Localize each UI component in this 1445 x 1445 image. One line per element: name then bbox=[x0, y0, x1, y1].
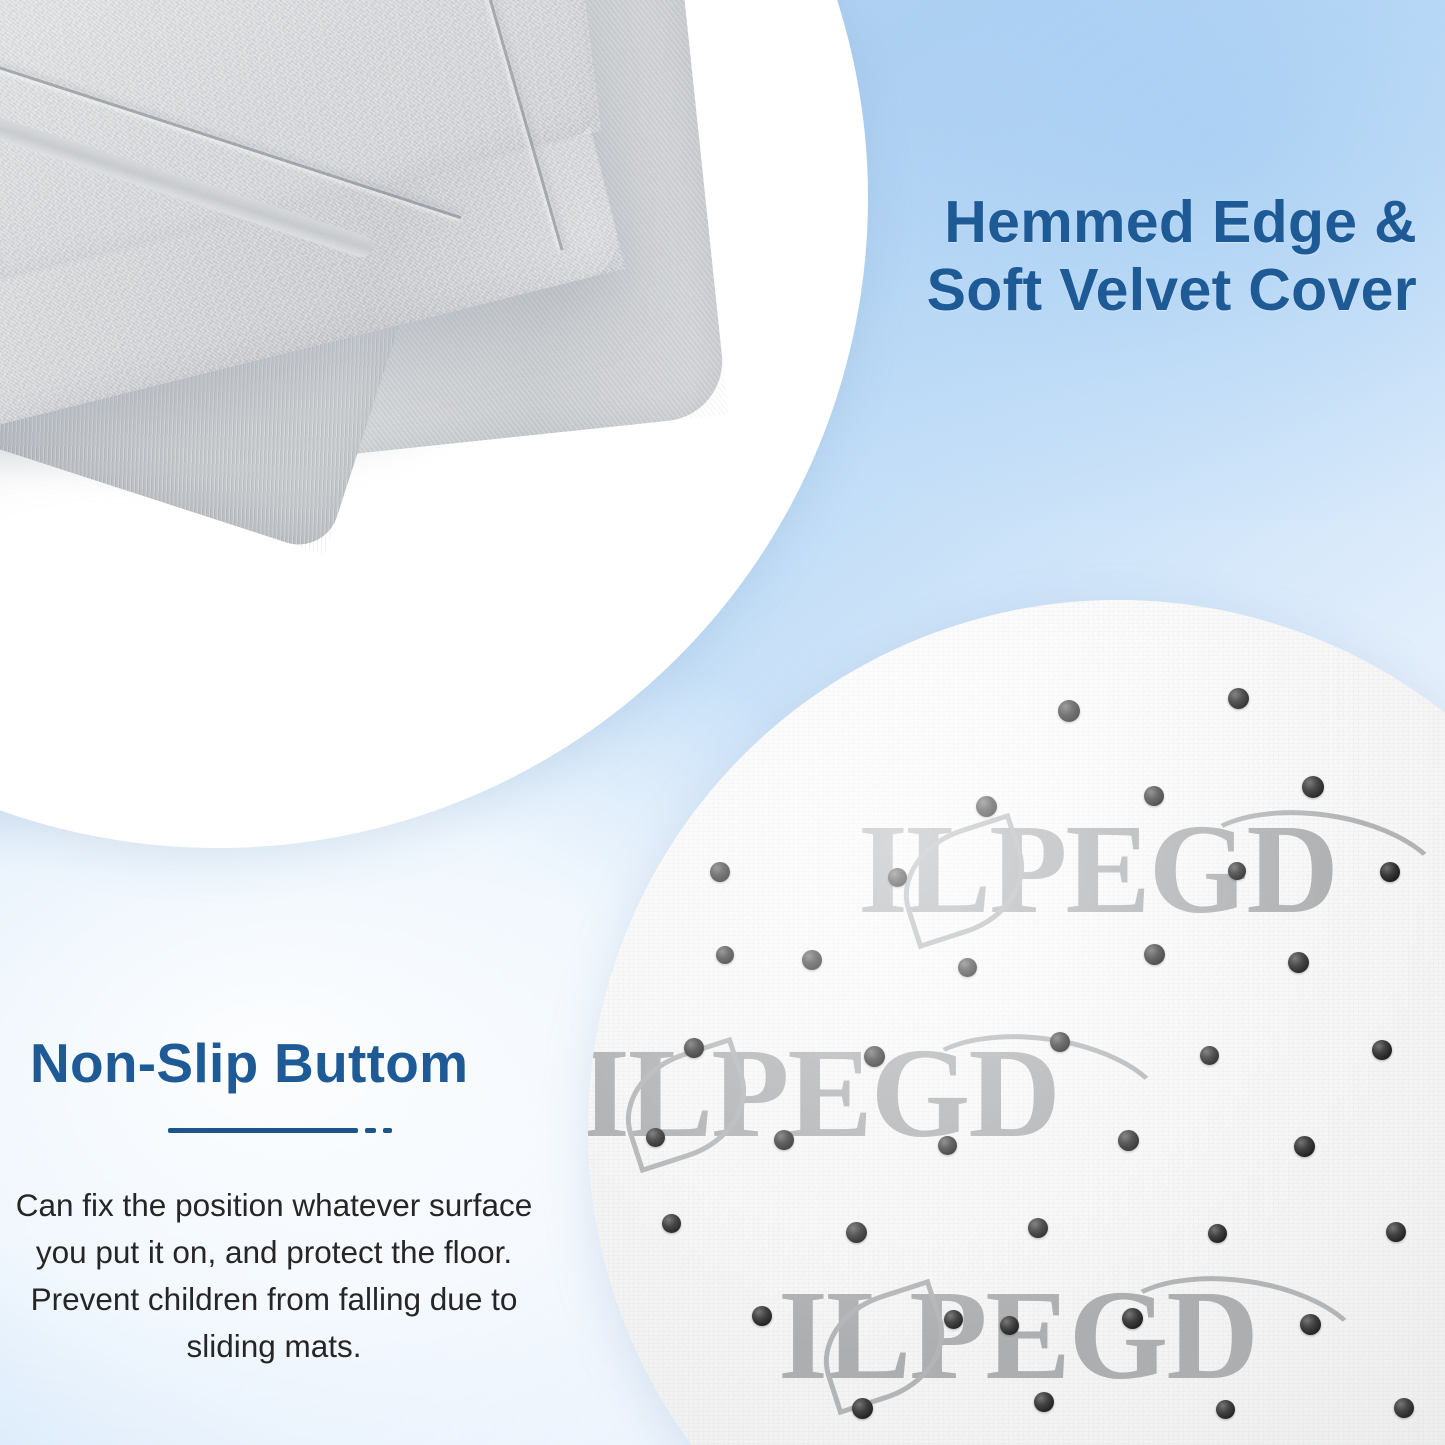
grip-dot bbox=[1000, 1316, 1019, 1335]
grip-dot bbox=[1122, 1308, 1143, 1329]
grip-dot bbox=[944, 1310, 963, 1329]
grip-dot bbox=[1200, 1046, 1219, 1065]
grip-dot bbox=[1208, 1224, 1227, 1243]
grip-dot bbox=[1216, 1400, 1235, 1419]
brand-watermark: ILPEGD bbox=[858, 796, 1337, 943]
grip-dot bbox=[1386, 1222, 1406, 1242]
grip-dot bbox=[662, 1214, 681, 1233]
grip-dot bbox=[1228, 862, 1246, 880]
headline-non-slip-bottom: Non-Slip Buttom bbox=[30, 1032, 468, 1096]
infographic-canvas: ILPEGD ILPEGD ILPEGD Hemmed Edge & Soft … bbox=[0, 0, 1445, 1445]
cushion-photo-circle bbox=[0, 0, 868, 848]
grip-dot bbox=[1144, 786, 1164, 806]
body-text-non-slip: Can fix the position whatever surface yo… bbox=[14, 1182, 534, 1370]
divider-line bbox=[168, 1128, 358, 1133]
grip-dot bbox=[1294, 1136, 1315, 1157]
grip-dot bbox=[1050, 1032, 1070, 1052]
brand-watermark: ILPEGD bbox=[778, 1262, 1257, 1409]
grip-dot bbox=[710, 862, 730, 882]
grip-dot bbox=[1302, 776, 1324, 798]
divider-dash bbox=[383, 1128, 392, 1133]
grip-dot bbox=[1118, 1130, 1139, 1151]
grip-dot bbox=[1144, 944, 1165, 965]
grip-dot bbox=[1288, 952, 1309, 973]
grip-dot bbox=[1058, 700, 1080, 722]
brand-watermark-text: ILPEGD bbox=[778, 1264, 1257, 1406]
grip-dot bbox=[1028, 1218, 1048, 1238]
grip-dot bbox=[1372, 1040, 1392, 1060]
grip-dot bbox=[1034, 1392, 1054, 1412]
grip-dot bbox=[1380, 862, 1400, 882]
grip-dot bbox=[802, 950, 822, 970]
headline-line-1: Hemmed Edge & bbox=[927, 188, 1417, 256]
grip-dot bbox=[774, 1130, 794, 1150]
grip-dot bbox=[852, 1398, 873, 1419]
grip-dot bbox=[1300, 1314, 1321, 1335]
grip-dot bbox=[938, 1136, 957, 1155]
divider-dash bbox=[365, 1128, 376, 1133]
grip-dot bbox=[716, 946, 734, 964]
headline-line-2: Soft Velvet Cover bbox=[927, 256, 1417, 324]
grip-dot bbox=[1228, 688, 1249, 709]
brand-watermark-text: ILPEGD bbox=[858, 798, 1337, 940]
heading-divider bbox=[168, 1128, 392, 1133]
grip-dot bbox=[646, 1128, 665, 1147]
grip-dot bbox=[1394, 1398, 1414, 1418]
grip-dot bbox=[684, 1038, 704, 1058]
headline-hemmed-edge: Hemmed Edge & Soft Velvet Cover bbox=[927, 188, 1417, 325]
grip-dot bbox=[846, 1222, 867, 1243]
grip-dot bbox=[864, 1046, 885, 1067]
grip-dot bbox=[888, 868, 907, 887]
grip-dot bbox=[958, 958, 977, 977]
grip-dot bbox=[752, 1306, 772, 1326]
grip-dot bbox=[976, 796, 997, 817]
